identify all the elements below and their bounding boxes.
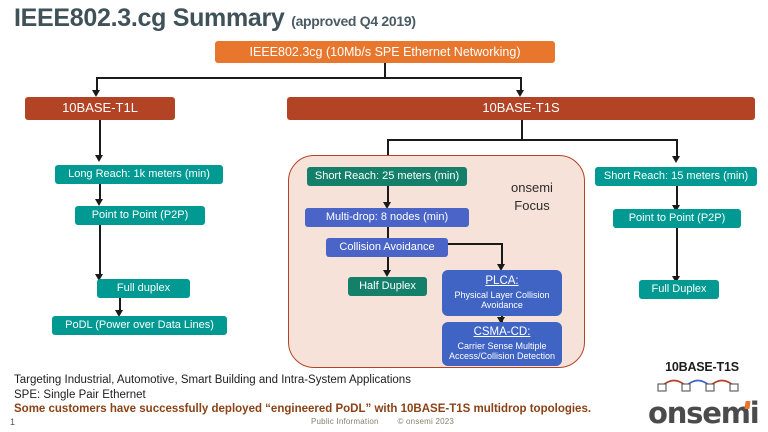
t1s-node-short-reach-15-label: Short Reach: 15 meters (min) [604,170,748,183]
root-standard-box: IEEE802.3cg (10Mb/s SPE Ethernet Network… [215,41,555,63]
connector-root-bar-right [384,77,522,79]
root-standard-label: IEEE802.3cg (10Mb/s SPE Ethernet Network… [250,45,521,59]
focus-node-plca-line1: Physical Layer Collision [454,290,549,301]
page-number: 1 [10,417,15,427]
standard-box-10base-t1s: 10BASE-T1S [287,97,755,120]
note-line-1: Targeting Industrial, Automotive, Smart … [14,374,411,386]
standard-label-t1l: 10BASE-T1L [62,101,138,116]
t1l-node-podl: PoDL (Power over Data Lines) [52,316,227,335]
footer-meta: Public Information © onsemi 2023 [311,417,454,426]
focus-node-csma-cd: CSMA-CD: Carrier Sense Multiple Access/C… [442,322,562,366]
connector-collision-to-plca-v [501,243,503,265]
footer-classification: Public Information [311,417,379,426]
connector-sr25-to-multidrop [387,186,389,203]
connector-t1s-p2p-to-fullduplex [676,228,678,277]
focus-node-short-reach-25-label: Short Reach: 25 meters (min) [315,170,459,183]
title-approved: (approved Q4 2019) [291,13,416,29]
slide-canvas: IEEE802.3.cg Summary (approved Q4 2019) … [0,0,768,432]
t1l-node-long-reach: Long Reach: 1k meters (min) [55,165,223,184]
focus-node-multi-drop: Multi-drop: 8 nodes (min) [305,208,469,227]
t1s-badge-label: 10BASE-T1S [652,360,752,374]
t1l-node-long-reach-label: Long Reach: 1k meters (min) [68,168,210,181]
connector-t1s-bar [387,139,677,141]
t1s-node-short-reach-15: Short Reach: 15 meters (min) [595,167,757,186]
focus-node-plca: PLCA: Physical Layer Collision Avoidance [442,270,562,316]
focus-node-half-duplex: Half Duplex [348,277,427,296]
connector-collision-to-halfduplex [387,257,389,271]
connector-t1s-stem [521,120,523,140]
standard-box-10base-t1l: 10BASE-T1L [25,97,175,120]
arrowhead-to-t1s [516,90,524,97]
t1l-node-podl-label: PoDL (Power over Data Lines) [65,319,214,332]
onsemi-wordmark: onsemi [648,396,754,430]
focus-node-csma-cd-line1: Carrier Sense Multiple [457,341,546,352]
arrowhead-t1l-p2p [95,199,103,206]
arrowhead-half-duplex [383,270,391,277]
connector-collision-to-plca-h [448,243,502,245]
t1s-badge-logo: 10BASE-T1S [652,360,752,390]
connector-longreach-to-p2p [99,184,101,200]
focus-node-half-duplex-label: Half Duplex [359,280,416,293]
multidrop-bus-icon [652,374,752,392]
footer-copyright: © onsemi 2023 [398,417,455,426]
arrowhead-to-t1l [92,90,100,97]
standard-label-t1s: 10BASE-T1S [482,101,559,116]
onsemi-focus-label-line1: onsemi [482,179,582,197]
t1l-node-full-duplex: Full duplex [97,279,190,298]
focus-node-plca-heading: PLCA: [485,275,518,288]
arrowhead-longreach [95,155,103,162]
onsemi-logo: onsemi [648,396,760,430]
connector-p2p-to-fullduplex [99,225,101,275]
focus-node-multi-drop-label: Multi-drop: 8 nodes (min) [326,211,448,224]
onsemi-focus-label: onsemi Focus [482,179,582,214]
title-main: IEEE802.3.cg Summary [14,4,285,32]
focus-node-csma-cd-heading: CSMA-CD: [474,326,531,339]
onsemi-focus-label-line2: Focus [482,197,582,215]
focus-node-short-reach-25: Short Reach: 25 meters (min) [307,167,467,186]
connector-root-left [96,77,98,91]
t1s-node-p2p-label: Point to Point (P2P) [629,212,726,225]
focus-node-plca-line2: Avoidance [481,300,523,311]
connector-root-bar [96,77,386,79]
connector-t1s-right-drop [676,139,678,157]
t1l-node-p2p: Point to Point (P2P) [75,206,205,225]
t1s-node-full-duplex: Full Duplex [639,280,719,299]
note-line-3: Some customers have successfully deploye… [14,403,591,415]
connector-sr15-to-p2p [676,186,678,206]
t1s-node-p2p: Point to Point (P2P) [613,209,741,228]
connector-t1l-to-longreach [99,120,101,156]
arrowhead-short-reach-15 [672,156,680,163]
page-title: IEEE802.3.cg Summary (approved Q4 2019) [14,4,416,33]
focus-node-csma-cd-line2: Access/Collision Detection [449,351,555,362]
t1l-node-full-duplex-label: Full duplex [117,282,170,295]
connector-root-stem [384,63,386,78]
t1s-node-full-duplex-label: Full Duplex [651,283,706,296]
note-line-2: SPE: Single Pair Ethernet [14,389,146,401]
connector-root-right [520,77,522,91]
focus-node-collision-avoidance-label: Collision Avoidance [339,241,434,254]
t1l-node-p2p-label: Point to Point (P2P) [92,209,189,222]
focus-node-collision-avoidance: Collision Avoidance [326,238,448,257]
